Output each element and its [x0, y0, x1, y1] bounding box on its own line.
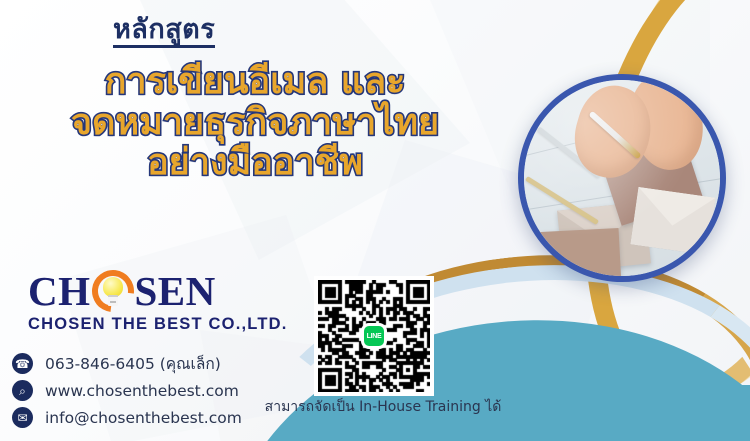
contact-website-text: www.chosenthebest.com [45, 382, 239, 400]
title-line-2: จดหมายธุรกิจภาษาไทย [20, 103, 490, 144]
bulb-glass [103, 277, 123, 297]
contact-phone-text: 063-846-6405 (คุณเล็ก) [45, 351, 221, 376]
line-qr-code[interactable]: LINE [314, 276, 434, 396]
company-logo: CH SEN CHOSEN THE BEST CO.,LTD. [28, 270, 288, 334]
qr-code-block[interactable]: LINE [314, 276, 434, 396]
email-icon: ✉ [12, 407, 33, 428]
photo-highlight [524, 80, 720, 276]
contact-row-email[interactable]: ✉ info@chosenthebest.com [12, 404, 242, 431]
title-line-3: อย่างมืออาชีพ [20, 143, 490, 184]
course-kicker: หลักสูตร [113, 16, 215, 48]
bulb-base [108, 295, 118, 306]
title-line-1: การเขียนอีเมล และ [20, 62, 490, 103]
inhouse-training-note: สามารถจัดเป็น In-House Training ได้ [258, 396, 508, 418]
logo-subtitle: CHOSEN THE BEST CO.,LTD. [28, 315, 288, 334]
contact-row-phone[interactable]: ☎ 063-846-6405 (คุณเล็ก) [12, 350, 242, 377]
line-logo-label: LINE [367, 333, 382, 340]
phone-icon: ☎ [12, 353, 33, 374]
logo-word-part1: CH [28, 271, 91, 312]
poster-canvas: หลักสูตร การเขียนอีเมล และ จดหมายธุรกิจภ… [0, 0, 750, 441]
logo-wordmark: CH SEN [28, 270, 288, 312]
page-title: การเขียนอีเมล และ จดหมายธุรกิจภาษาไทย อย… [20, 62, 490, 184]
contact-row-website[interactable]: ⌕ www.chosenthebest.com [12, 377, 242, 404]
lightbulb-icon [92, 270, 134, 312]
contact-list: ☎ 063-846-6405 (คุณเล็ก) ⌕ www.chosenthe… [12, 350, 242, 431]
line-logo-icon: LINE [361, 323, 387, 349]
contact-email-text: info@chosenthebest.com [45, 409, 242, 427]
globe-icon: ⌕ [12, 380, 33, 401]
logo-word-part2: SEN [135, 271, 216, 312]
course-photo [518, 74, 726, 282]
